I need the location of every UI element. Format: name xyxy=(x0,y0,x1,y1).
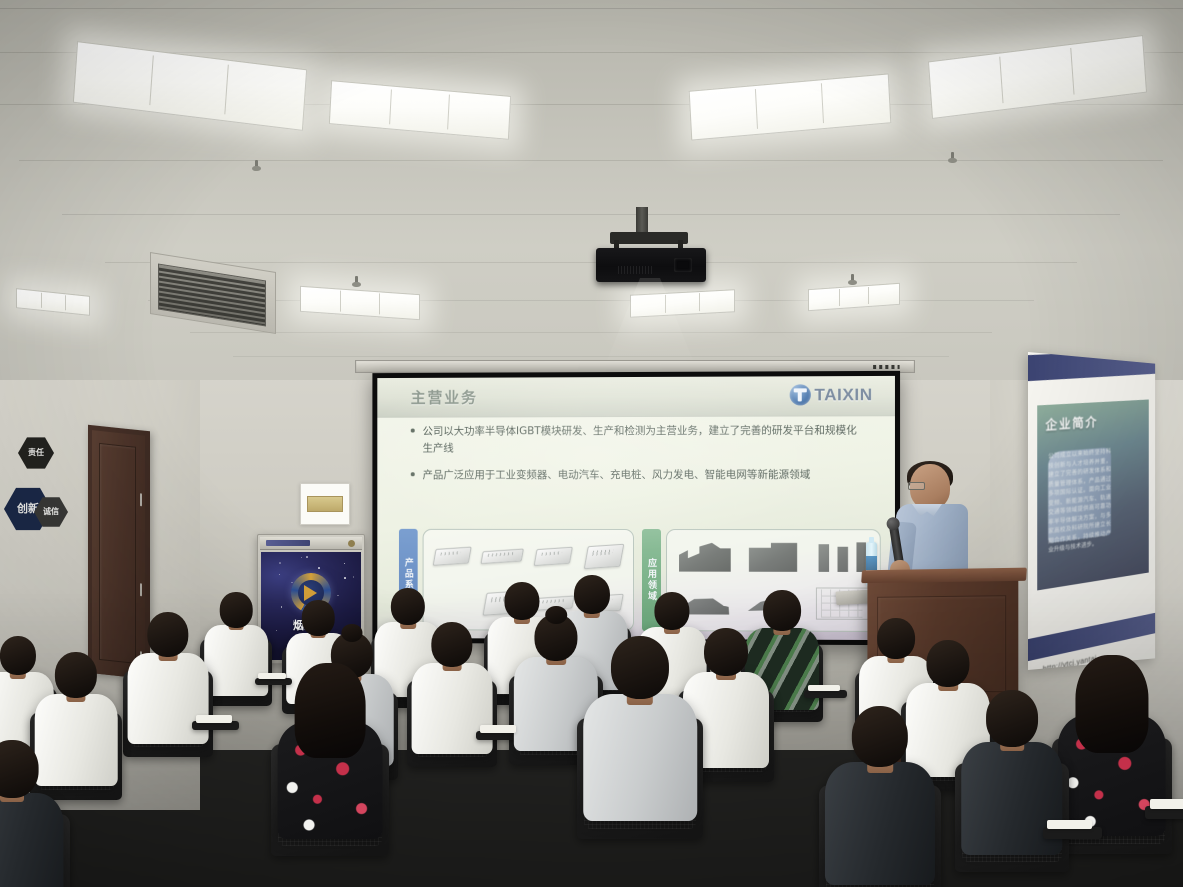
notepad xyxy=(196,715,232,723)
bullet-dot-icon xyxy=(411,467,423,484)
app-thumb-industrial xyxy=(672,535,737,578)
product-thumb xyxy=(529,535,577,578)
projector-vents xyxy=(618,266,652,274)
audience-head xyxy=(852,706,908,767)
lectern-top xyxy=(861,568,1027,584)
projector-bracket xyxy=(610,232,688,244)
audience-head xyxy=(431,622,472,667)
notepad xyxy=(480,725,516,733)
screen-control-buttons[interactable] xyxy=(873,365,899,369)
product-thumb xyxy=(580,535,628,579)
taixin-logo: TAIXIN xyxy=(789,384,872,405)
audience-head xyxy=(763,590,801,631)
app-thumb-server-cabinet xyxy=(740,535,806,578)
ceiling-projector xyxy=(596,248,706,282)
sprinkler-head xyxy=(252,160,261,172)
slide-bullet-list: 公司以大功率半导体IGBT模块研发、生产和检测为主营业务，建立了完善的研发平台和… xyxy=(377,422,895,494)
projector-lens xyxy=(674,258,692,272)
audience-head xyxy=(611,636,669,699)
notepad xyxy=(808,685,841,692)
taixin-mark-icon xyxy=(789,384,810,405)
audience-head xyxy=(704,628,748,676)
bullet-dot-icon xyxy=(411,424,423,458)
suspended-ceiling xyxy=(0,0,1183,380)
door-hinge xyxy=(140,583,143,596)
slide-title: 主营业务 xyxy=(411,387,478,408)
audience-head xyxy=(302,600,335,636)
audience-torso xyxy=(825,762,935,885)
audience-head xyxy=(926,640,969,687)
audience-torso xyxy=(583,694,697,821)
audience-torso xyxy=(412,663,493,753)
projector-mount-pole xyxy=(636,207,648,235)
audience-torso xyxy=(0,793,64,887)
glasses-icon xyxy=(908,482,925,490)
framed-plaque xyxy=(300,483,350,525)
audience-head xyxy=(55,652,97,698)
wall-badge-label: 责任 xyxy=(28,449,44,457)
audience-head xyxy=(0,740,38,798)
product-thumb xyxy=(479,535,527,578)
conference-room-photo: 主营业务 TAIXIN 公司以大功率半导体IGBT模块研发、生产和检测为主营业务… xyxy=(0,0,1183,887)
slide-bullet: 公司以大功率半导体IGBT模块研发、生产和检测为主营业务，建立了完善的研发平台和… xyxy=(411,422,861,457)
audience-torso xyxy=(128,653,209,743)
wall-badge-label: 诚信 xyxy=(43,508,59,516)
audience-hair-bun xyxy=(545,606,567,624)
notepad xyxy=(1047,820,1092,829)
audience-head xyxy=(654,592,689,630)
audience-head xyxy=(220,592,253,628)
wall-poster: 企业简介 公司成立以来始终坚持科技创新与人才培养并重，建立了完善的研发体系和质量… xyxy=(1028,352,1155,670)
audience-member xyxy=(0,740,65,887)
poster-title: 企业简介 xyxy=(1045,409,1141,433)
banner-top-rail xyxy=(260,537,362,550)
audience-head xyxy=(986,690,1038,747)
notepad xyxy=(1150,799,1183,809)
product-thumb xyxy=(429,535,476,578)
slide-bullet-text: 公司以大功率半导体IGBT模块研发、生产和检测为主营业务，建立了完善的研发平台和… xyxy=(423,422,861,457)
poster-content: 企业简介 公司成立以来始终坚持科技创新与人才培养并重，建立了完善的研发体系和质量… xyxy=(1037,400,1149,591)
slide-header-bar: 主营业务 TAIXIN xyxy=(377,376,895,418)
audience-head xyxy=(0,636,36,675)
audience-hair-long xyxy=(295,663,366,758)
audience-head xyxy=(391,588,425,625)
audience-head xyxy=(147,612,188,657)
audience-member xyxy=(276,668,383,839)
chair-tablet-arm xyxy=(804,690,847,699)
taixin-wordmark: TAIXIN xyxy=(814,385,872,405)
door-hinge xyxy=(140,493,143,506)
audience-member xyxy=(824,706,937,885)
slide-bullet-text: 产品广泛应用于工业变频器、电动汽车、充电桩、风力发电、智能电网等新能源领域 xyxy=(423,467,811,484)
audience-member xyxy=(582,636,698,821)
sprinkler-head xyxy=(948,152,957,164)
slide-bullet: 产品广泛应用于工业变频器、电动汽车、充电桩、风力发电、智能电网等新能源领域 xyxy=(411,467,861,484)
sprinkler-head xyxy=(848,274,857,286)
audience-head xyxy=(574,575,610,614)
sprinkler-head xyxy=(352,276,361,288)
poster-body-text: 公司成立以来始终坚持科技创新与人才培养并重，建立了完善的研发体系和质量管理体系，… xyxy=(1048,447,1111,543)
audience-hair-long xyxy=(1075,655,1148,753)
